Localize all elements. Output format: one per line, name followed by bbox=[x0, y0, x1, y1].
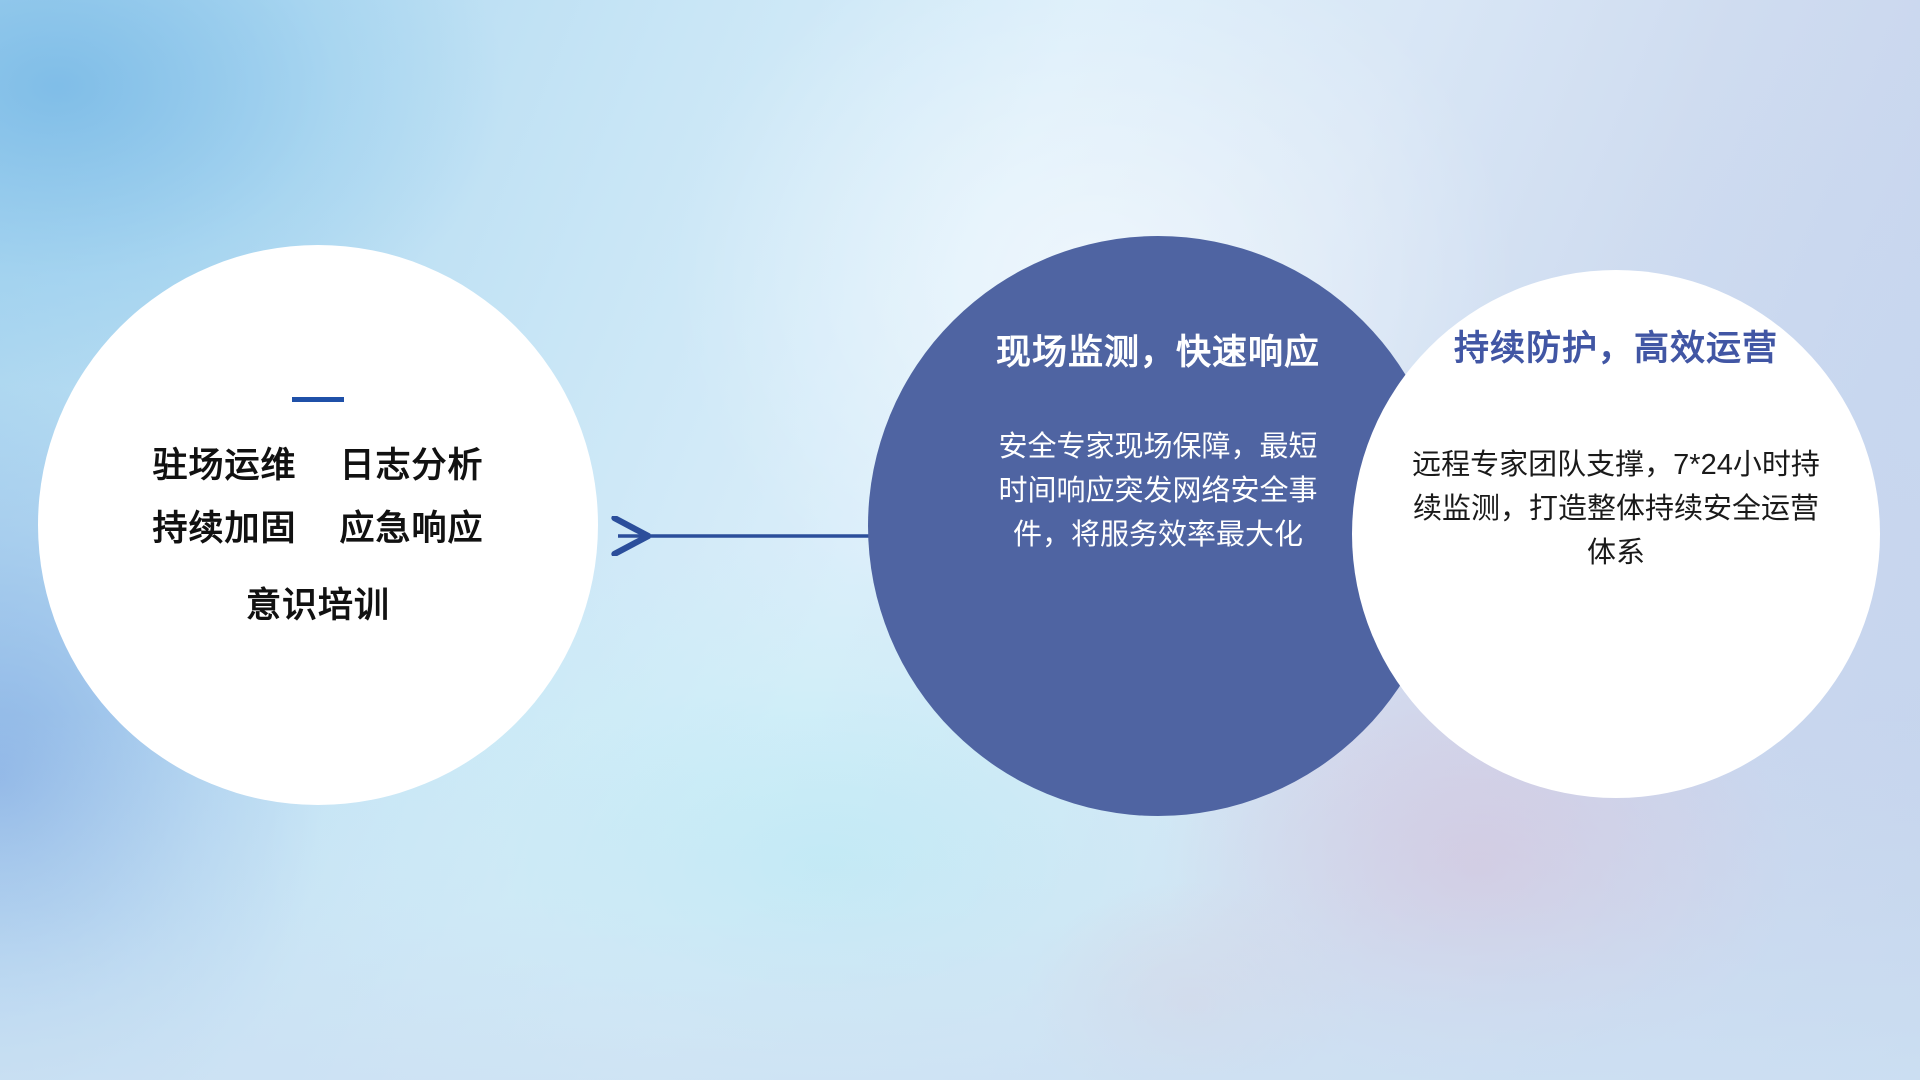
left-service-list: 驻场运维 日志分析 持续加固 应急响应 意识培训 bbox=[38, 448, 598, 624]
left-service-line-1: 驻场运维 日志分析 bbox=[38, 448, 598, 485]
left-service-line-2: 持续加固 应急响应 bbox=[38, 511, 598, 548]
right-circle-body: 远程专家团队支撑，7*24小时持续监测，打造整体持续安全运营体系 bbox=[1406, 443, 1826, 575]
right-circle-title: 持续防护，高效运营 bbox=[1454, 320, 1778, 371]
left-service-circle[interactable]: 驻场运维 日志分析 持续加固 应急响应 意识培训 bbox=[38, 245, 598, 805]
slide-canvas: 驻场运维 日志分析 持续加固 应急响应 意识培训 现场监测，快速响应 安全专家现… bbox=[0, 0, 1920, 1080]
mid-circle-title: 现场监测，快速响应 bbox=[996, 324, 1320, 375]
title-divider bbox=[292, 397, 344, 402]
connector-arrow-left-icon bbox=[600, 500, 900, 572]
mid-circle-body: 安全专家现场保障，最短时间响应突发网络安全事件，将服务效率最大化 bbox=[993, 425, 1323, 557]
right-operations-circle[interactable]: 持续防护，高效运营 远程专家团队支撑，7*24小时持续监测，打造整体持续安全运营… bbox=[1352, 270, 1880, 798]
left-service-line-3: 意识培训 bbox=[38, 588, 598, 625]
